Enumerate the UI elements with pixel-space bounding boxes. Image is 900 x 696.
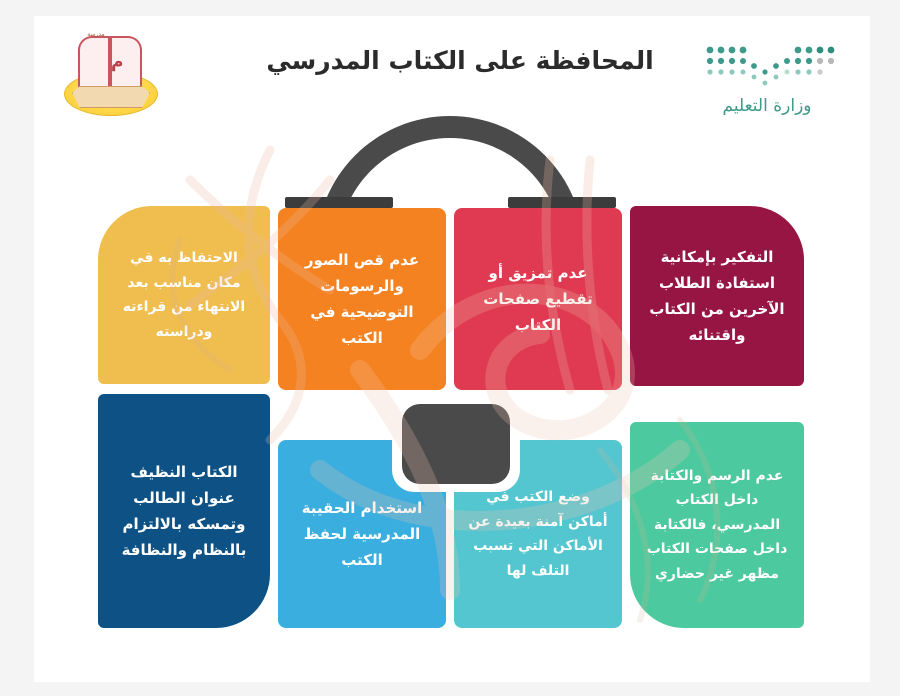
panel-no-tearing-pages-text: عدم تمزيق أو تقطيع صفحات الكتاب bbox=[468, 260, 608, 339]
briefcase-clasp-icon bbox=[402, 404, 510, 484]
panel-no-tearing-pages[interactable]: عدم تمزيق أو تقطيع صفحات الكتاب bbox=[454, 208, 622, 390]
panel-clean-book-identity[interactable]: الكتاب النظيف عنوان الطالب وتمسكه بالالت… bbox=[98, 394, 270, 628]
panel-retention[interactable]: الاحتفاظ به في مكان مناسب بعد الانتهاء م… bbox=[98, 206, 270, 384]
panel-share-with-others-text: التفكير بإمكانية استفادة الطلاب الآخرين … bbox=[644, 244, 790, 349]
briefcase-handle-base-right bbox=[285, 197, 393, 208]
panel-clean-book-identity-text: الكتاب النظيف عنوان الطالب وتمسكه بالالت… bbox=[112, 459, 256, 564]
briefcase-handle-base-left bbox=[508, 197, 616, 208]
panel-no-drawing-writing[interactable]: عدم الرسم والكتابة داخل الكتاب المدرسي، … bbox=[630, 422, 804, 628]
panel-safe-storage-text: وضع الكتب في أماكن آمنة بعيدة عن الأماكن… bbox=[468, 485, 608, 583]
panel-share-with-others[interactable]: التفكير بإمكانية استفادة الطلاب الآخرين … bbox=[630, 206, 804, 386]
panel-use-schoolbag-text: استخدام الحقيبة المدرسية لحفظ الكتب bbox=[292, 495, 432, 574]
panel-no-cutting-images[interactable]: عدم قص الصور والرسومات التوضيحية في الكت… bbox=[278, 208, 446, 390]
panel-retention-text: الاحتفاظ به في مكان مناسب بعد الانتهاء م… bbox=[112, 246, 256, 344]
briefcase-graphic: الاحتفاظ به في مكان مناسب بعد الانتهاء م… bbox=[0, 0, 900, 696]
panel-no-cutting-images-text: عدم قص الصور والرسومات التوضيحية في الكت… bbox=[292, 247, 432, 352]
infographic-poster: م مدرسة المحافظة على الكتاب المدرسي bbox=[0, 0, 900, 696]
panel-no-drawing-writing-text: عدم الرسم والكتابة داخل الكتاب المدرسي، … bbox=[644, 464, 790, 587]
